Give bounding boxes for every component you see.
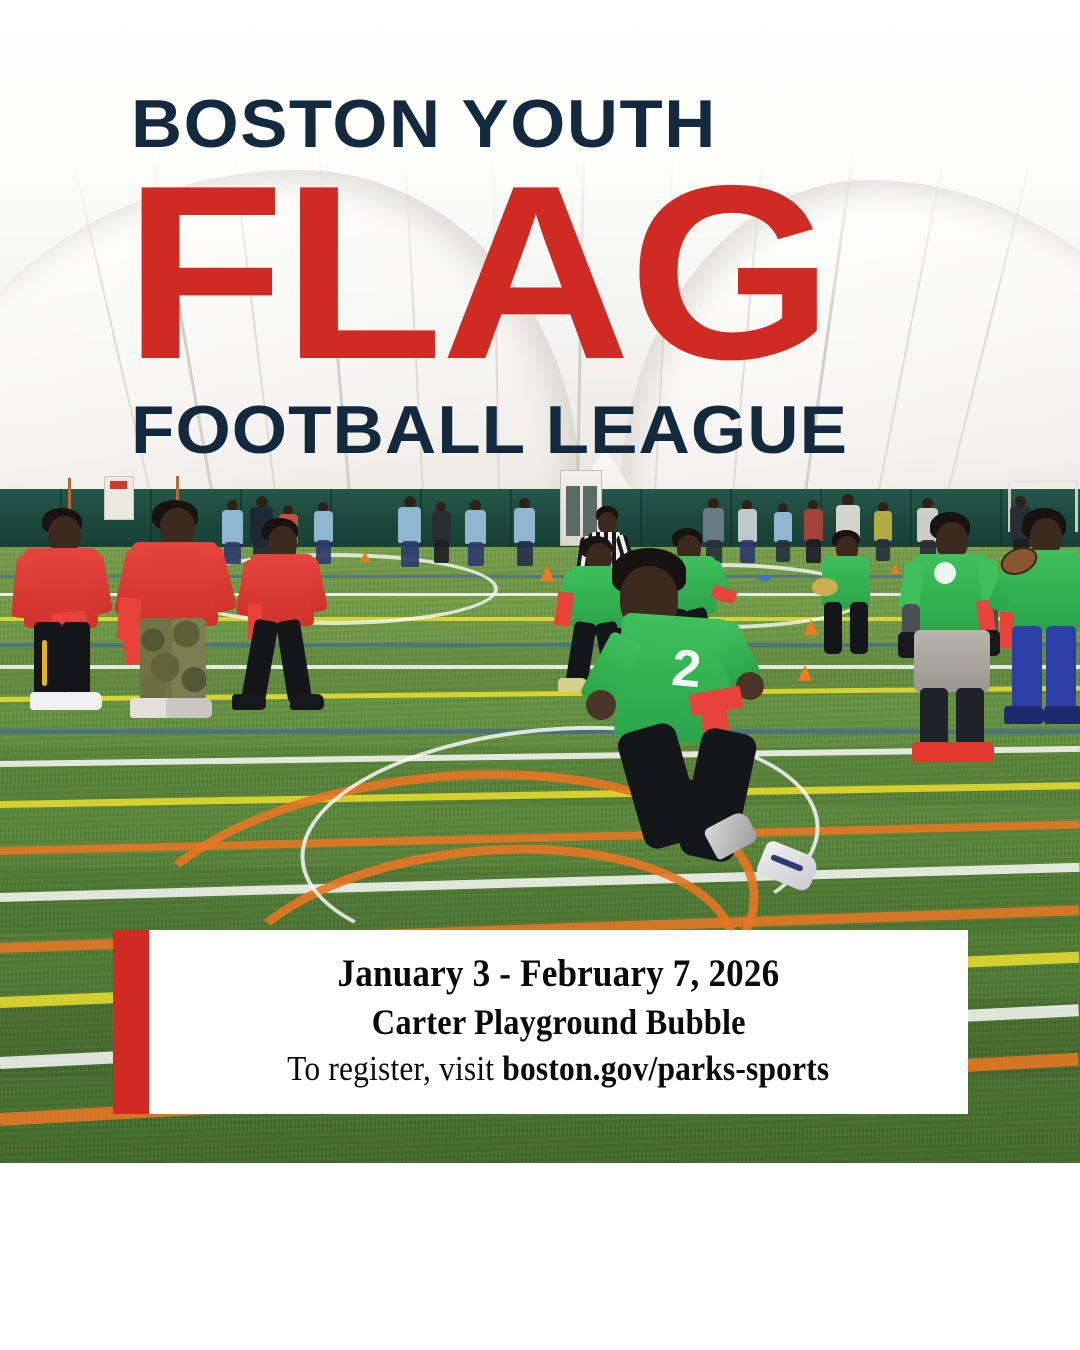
shorts (914, 630, 990, 692)
event-dates: January 3 - February 7, 2026 (338, 951, 780, 996)
exit-sign (110, 481, 127, 489)
info-box-content: January 3 - February 7, 2026 Carter Play… (149, 930, 968, 1114)
football-icon (812, 578, 838, 596)
field-cone (540, 565, 554, 581)
field-cone (890, 563, 900, 574)
registration-prefix: To register, visit (287, 1049, 502, 1088)
info-box-accent-bar (113, 930, 149, 1114)
field-cone (804, 619, 818, 635)
title-flag-word: FLAG (124, 148, 831, 396)
dome-door-panel (566, 486, 580, 536)
registration-url[interactable]: boston.gov/parks-sports (503, 1049, 830, 1088)
title-line-3: FOOTBALL LEAGUE (131, 396, 848, 464)
jersey-number: 2 (670, 641, 701, 697)
event-venue: Carter Playground Bubble (372, 1001, 746, 1043)
dome-door-panel (583, 486, 597, 536)
field-cone (360, 551, 370, 562)
field-disc (758, 575, 771, 581)
registration-line: To register, visit boston.gov/parks-spor… (287, 1049, 829, 1089)
field-cone (798, 665, 812, 681)
event-info-box: January 3 - February 7, 2026 Carter Play… (113, 930, 968, 1114)
poster: 2 (0, 0, 1080, 1350)
footer-bar (0, 1163, 1080, 1350)
